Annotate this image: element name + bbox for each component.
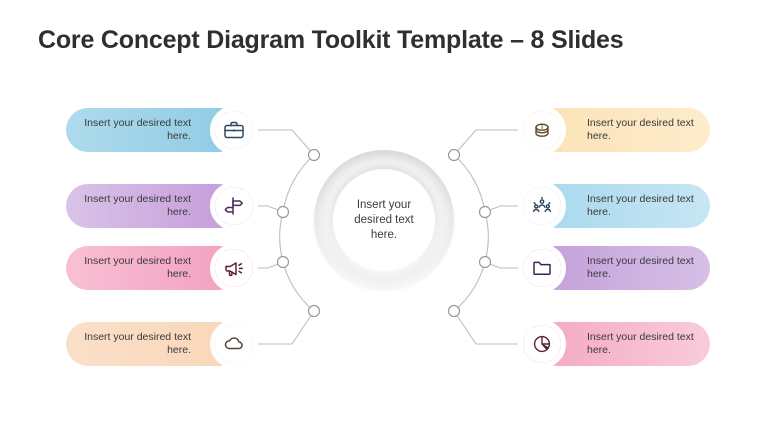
connector-arc-left-mid [280, 212, 283, 262]
node-badge[interactable]: $ [518, 106, 566, 154]
node-badge[interactable] [518, 320, 566, 368]
connector-arc-left-bottom [283, 262, 314, 311]
node-badge[interactable] [518, 244, 566, 292]
connector-line-right-4 [454, 311, 528, 344]
node-label: Insert your desired text here. [587, 331, 710, 357]
connector-dot-lower-right [480, 257, 491, 268]
briefcase-icon [222, 118, 246, 142]
node-left-signpost[interactable]: Insert your desired text here. [66, 184, 258, 228]
badge-inner [215, 249, 253, 287]
center-hub-text: Insert your desired text here. [341, 198, 427, 243]
node-label: Insert your desired text here. [587, 117, 710, 143]
node-right-folder[interactable]: Insert your desired text here. [535, 246, 727, 290]
node-left-cloud[interactable]: Insert your desired text here. [66, 322, 258, 366]
node-label: Insert your desired text here. [66, 193, 191, 219]
connector-dot-bottom-right [449, 306, 460, 317]
connector-arc-left-top [283, 155, 314, 212]
node-label: Insert your desired text here. [66, 331, 191, 357]
node-right-coins[interactable]: Insert your desired text here. $ [535, 108, 727, 152]
node-left-briefcase[interactable]: Insert your desired text here. [66, 108, 258, 152]
connector-arc-right-mid [485, 212, 488, 262]
node-badge[interactable] [210, 320, 258, 368]
connector-dot-bottom-left [309, 306, 320, 317]
megaphone-icon [222, 256, 246, 280]
signpost-icon [222, 194, 246, 218]
node-label: Insert your desired text here. [66, 255, 191, 281]
coins-icon: $ [530, 118, 554, 142]
connector-dot-upper-left [278, 207, 289, 218]
connector-dot-lower-left [278, 257, 289, 268]
node-badge[interactable] [518, 182, 566, 230]
node-label: Insert your desired text here. [587, 193, 710, 219]
badge-inner: $ [523, 111, 561, 149]
node-label: Insert your desired text here. [587, 255, 710, 281]
center-hub[interactable]: Insert your desired text here. [314, 150, 454, 290]
connector-arc-right-bottom [454, 262, 485, 311]
badge-inner [215, 111, 253, 149]
badge-inner [523, 249, 561, 287]
badge-inner [215, 187, 253, 225]
node-badge[interactable] [210, 244, 258, 292]
badge-inner [523, 325, 561, 363]
connector-arc-right-top [454, 155, 485, 212]
badge-inner [523, 187, 561, 225]
svg-text:$: $ [541, 124, 544, 129]
pie-chart-icon [530, 332, 554, 356]
node-badge[interactable] [210, 106, 258, 154]
cloud-icon [222, 332, 246, 356]
slide-canvas: Core Concept Diagram Toolkit Template – … [0, 0, 768, 432]
team-icon [530, 194, 554, 218]
badge-inner [215, 325, 253, 363]
node-left-megaphone[interactable]: Insert your desired text here. [66, 246, 258, 290]
node-right-piechart[interactable]: Insert your desired text here. [535, 322, 727, 366]
connector-dot-upper-right [480, 207, 491, 218]
node-label: Insert your desired text here. [66, 117, 191, 143]
node-right-team[interactable]: Insert your desired text here. [535, 184, 727, 228]
center-hub-core: Insert your desired text here. [333, 169, 435, 271]
connector-line-right-1 [454, 130, 528, 155]
node-badge[interactable] [210, 182, 258, 230]
folder-icon [530, 256, 554, 280]
